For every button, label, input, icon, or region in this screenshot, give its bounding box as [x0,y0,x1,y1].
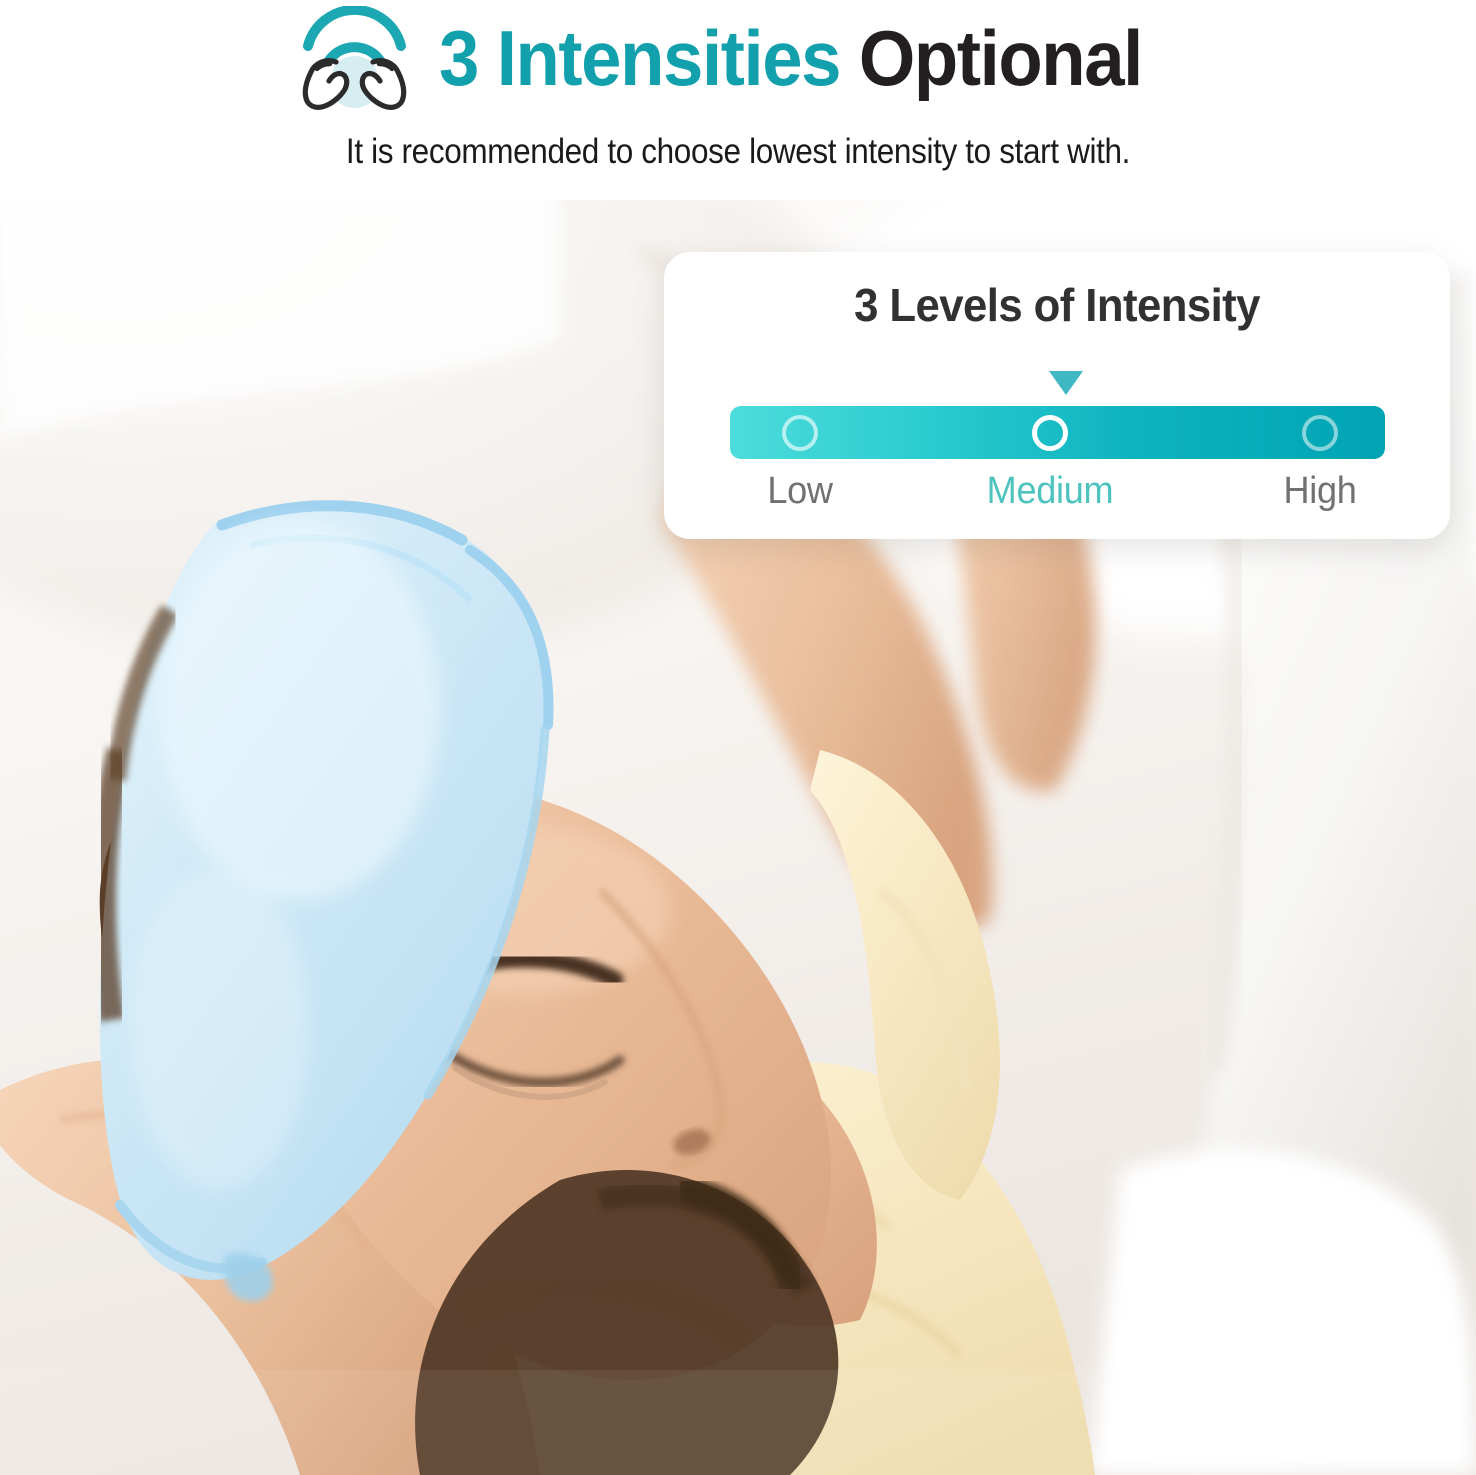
intensity-card-heading: 3 Levels of Intensity [684,278,1431,332]
title-row: 3 Intensities Optional [0,4,1476,112]
slider-knob-high[interactable] [1302,415,1338,451]
intensity-label-low[interactable]: Low [767,470,832,513]
header: 3 Intensities Optional It is recommended… [0,0,1476,200]
slider-knob-low[interactable] [782,415,818,451]
product-feature-panel: 3 Intensities Optional It is recommended… [0,0,1476,1475]
hands-cupping-head-signal-icon [292,6,417,111]
intensity-labels: Low Medium High [730,470,1385,522]
intensity-card: 3 Levels of Intensity Low Medium High [664,252,1450,539]
intensity-label-high[interactable]: High [1283,470,1356,513]
intensity-slider[interactable] [730,406,1385,459]
page-subtitle: It is recommended to choose lowest inten… [74,132,1402,172]
intensity-label-medium[interactable]: Medium [987,470,1114,513]
page-title-plain: Optional [858,14,1141,102]
slider-knob-medium[interactable] [1032,415,1068,451]
triangle-down-icon [1049,371,1083,395]
page-title-accent: 3 Intensities [439,14,840,102]
page-title: 3 Intensities Optional [439,19,1142,97]
